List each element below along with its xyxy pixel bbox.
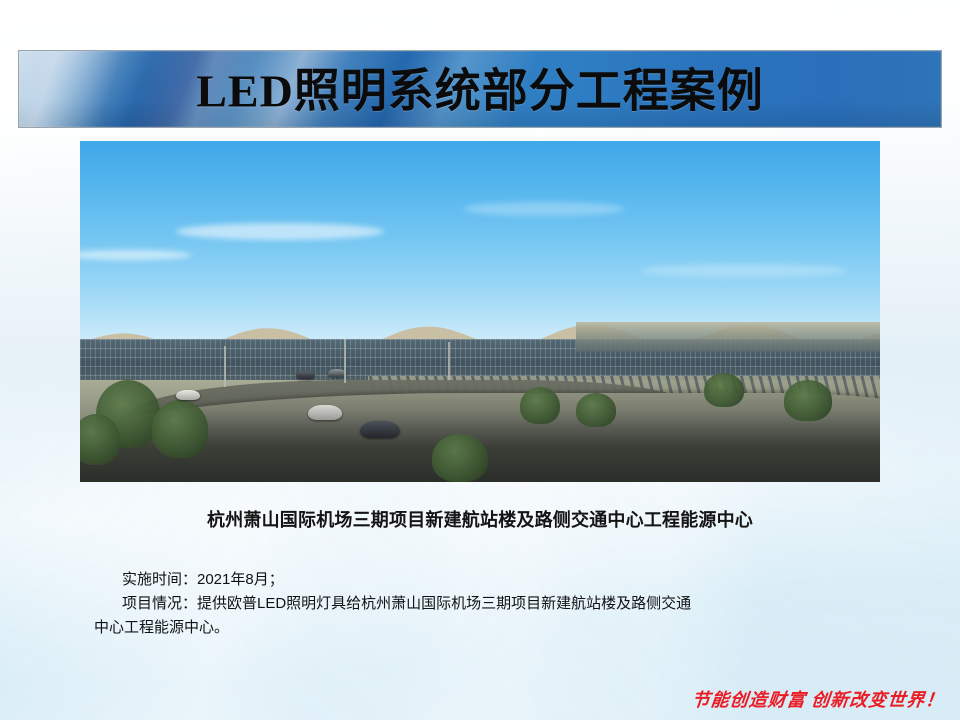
footer-slogan: 节能创造财富 创新改变世界！ xyxy=(690,686,945,712)
car xyxy=(328,369,346,377)
car xyxy=(360,421,400,439)
body-line-project-description: 项目情况：提供欧普LED照明灯具给杭州萧山国际机场三期项目新建航站楼及路侧交通 xyxy=(94,592,884,616)
page-title: LED照明系统部分工程案例 xyxy=(19,55,941,121)
car xyxy=(296,371,315,379)
car xyxy=(308,405,342,419)
title-banner: LED照明系统部分工程案例 xyxy=(18,50,942,128)
tree xyxy=(432,434,488,482)
tree xyxy=(152,400,208,458)
photo-caption: 杭州萧山国际机场三期项目新建航站楼及路侧交通中心工程能源中心 xyxy=(80,506,880,532)
photo-cloud-3 xyxy=(464,202,624,216)
tree xyxy=(520,387,560,425)
project-photo xyxy=(80,141,880,482)
slide-root: LED照明系统部分工程案例 xyxy=(0,0,960,720)
body-text-block: 实施时间：2021年8月； 项目情况：提供欧普LED照明灯具给杭州萧山国际机场三… xyxy=(94,568,884,640)
tree xyxy=(784,380,832,421)
body-line-project-description-cont: 中心工程能源中心。 xyxy=(94,616,884,640)
car xyxy=(176,390,200,400)
lamp-post xyxy=(224,346,226,387)
body-line-implementation-time: 实施时间：2021年8月； xyxy=(94,568,884,592)
distant-buildings xyxy=(576,322,880,353)
tree xyxy=(704,373,744,407)
lamp-post xyxy=(344,339,346,383)
lamp-post xyxy=(448,342,450,380)
tree xyxy=(576,393,616,427)
photo-cloud-1 xyxy=(176,223,384,240)
